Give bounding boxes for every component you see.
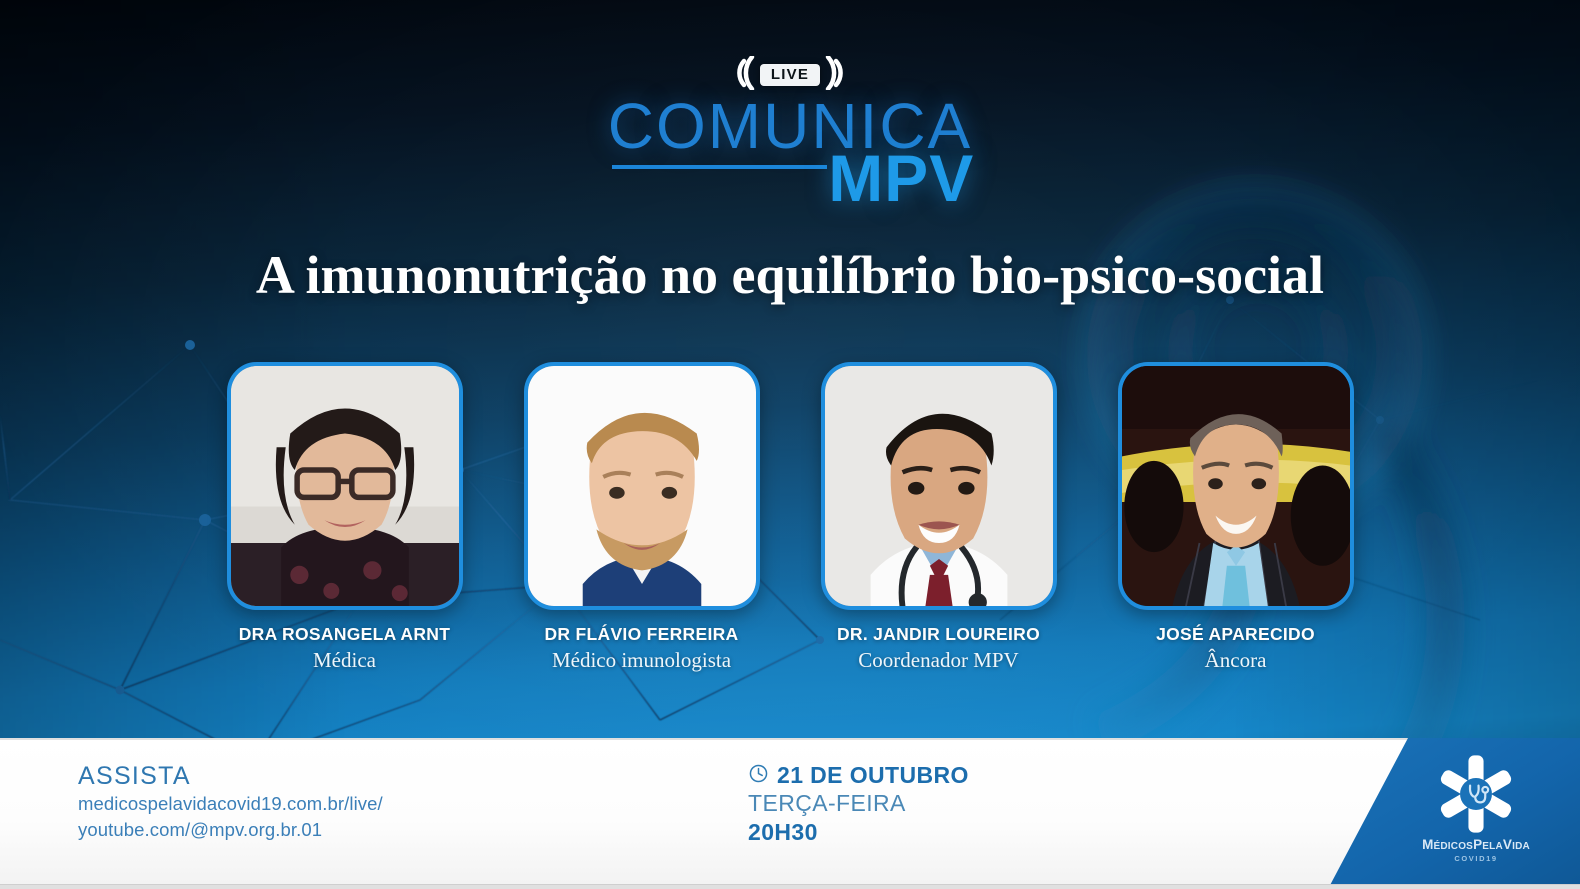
schedule-date-row: 21 DE OUTUBRO [748, 762, 969, 789]
speaker-card: JOSÉ APARECIDO Âncora [1118, 362, 1354, 673]
speaker-photo-jandir [821, 362, 1057, 610]
schedule-weekday: TERÇA-FEIRA [748, 789, 969, 818]
watch-info: ASSISTA medicospelavidacovid19.com.br/li… [78, 762, 383, 843]
speaker-name: DRA ROSANGELA ARNT [239, 624, 451, 645]
watch-heading: ASSISTA [78, 762, 383, 791]
speaker-role: Médica [313, 648, 376, 673]
brand-panel: MÉDICOSPELAVIDA COVID19 [1280, 738, 1580, 889]
speaker-role: Médico imunologista [552, 648, 731, 673]
wordmark-rule [612, 165, 827, 169]
event-title: A imunonutrição no equilíbrio bio-psico-… [0, 244, 1580, 306]
speaker-name: DR. JANDIR LOUREIRO [837, 624, 1040, 645]
brand-name-edicos: ÉDICOS [1434, 841, 1474, 852]
watch-link-site[interactable]: medicospelavidacovid19.com.br/live/ [78, 791, 383, 817]
brand-name-m: M [1422, 837, 1433, 852]
wordmark-mpv: MPV [828, 145, 974, 211]
speaker-card: DR. JANDIR LOUREIRO Coordenador MPV [821, 362, 1057, 673]
comunica-mpv-logo: LIVE COMUNICA MPV [0, 52, 1580, 219]
speaker-photo-rosangela [227, 362, 463, 610]
wordmark: COMUNICA MPV [608, 96, 972, 219]
live-event-poster: LIVE COMUNICA MPV A imunonutrição no equ… [0, 0, 1580, 889]
wordmark-mpv-row: MPV [608, 157, 972, 219]
footer-bar: ASSISTA medicospelavidacovid19.com.br/li… [0, 738, 1580, 889]
brand-name-p: P [1473, 837, 1482, 852]
live-badge: LIVE [760, 64, 820, 86]
speaker-role: Âncora [1205, 648, 1267, 673]
speakers-row: DRA ROSANGELA ARNT Médica [0, 362, 1580, 673]
schedule-time: 20H30 [748, 818, 969, 847]
speaker-photo-jose-icon [1122, 366, 1350, 606]
brand-name-ela: ELA [1482, 841, 1503, 852]
speaker-card: DR FLÁVIO FERREIRA Médico imunologista [524, 362, 760, 673]
brand-lockup: MÉDICOSPELAVIDA COVID19 [1388, 752, 1564, 863]
speaker-role: Coordenador MPV [858, 648, 1018, 673]
brand-tagline: COVID19 [1422, 854, 1530, 863]
brand-name-v: V [1503, 837, 1512, 852]
watch-link-youtube[interactable]: youtube.com/@mpv.org.br.01 [78, 817, 383, 843]
footer-bottom-edge [0, 884, 1580, 889]
speaker-photo-jandir-icon [825, 366, 1053, 606]
speaker-photo-flavio-icon [528, 366, 756, 606]
brand-name-ida: IDA [1512, 841, 1530, 852]
brand-name: MÉDICOSPELAVIDA COVID19 [1422, 838, 1530, 863]
speaker-photo-rosangela-icon [231, 366, 459, 606]
schedule-date: 21 DE OUTUBRO [777, 762, 969, 789]
speaker-name: JOSÉ APARECIDO [1156, 624, 1315, 645]
clock-icon [748, 763, 769, 789]
speaker-photo-flavio [524, 362, 760, 610]
speaker-card: DRA ROSANGELA ARNT Médica [227, 362, 463, 673]
schedule-info: 21 DE OUTUBRO TERÇA-FEIRA 20H30 [748, 762, 969, 847]
speaker-photo-jose [1118, 362, 1354, 610]
star-of-life-stethoscope-icon [1434, 752, 1518, 836]
speaker-name: DR FLÁVIO FERREIRA [544, 624, 738, 645]
